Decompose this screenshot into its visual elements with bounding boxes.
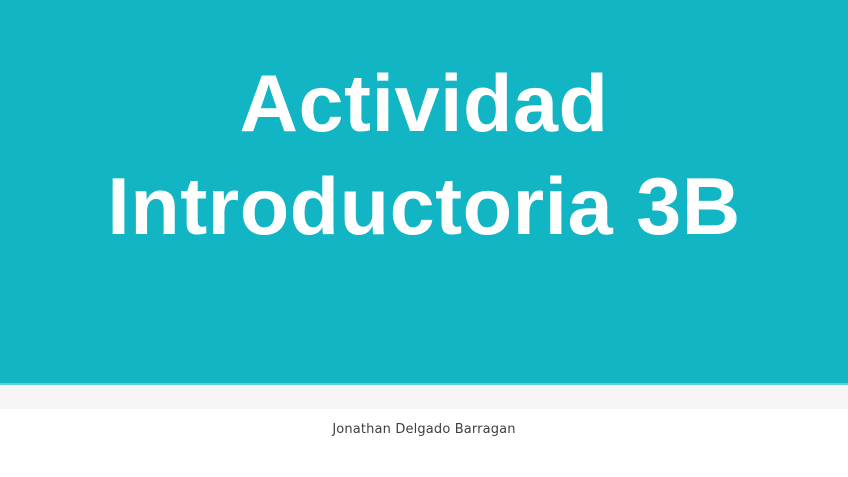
title-slide: Actividad Introductoria 3B Jonathan Delg… (0, 0, 848, 477)
slide-title-block: Actividad Introductoria 3B (0, 0, 848, 383)
gray-divider-strip (0, 385, 848, 409)
slide-title-line-1: Actividad (239, 53, 608, 155)
slide-title-line-2: Introductoria 3B (107, 156, 741, 258)
slide-subtitle-area: Jonathan Delgado Barragan (0, 409, 848, 477)
slide-subtitle-author: Jonathan Delgado Barragan (332, 422, 515, 437)
